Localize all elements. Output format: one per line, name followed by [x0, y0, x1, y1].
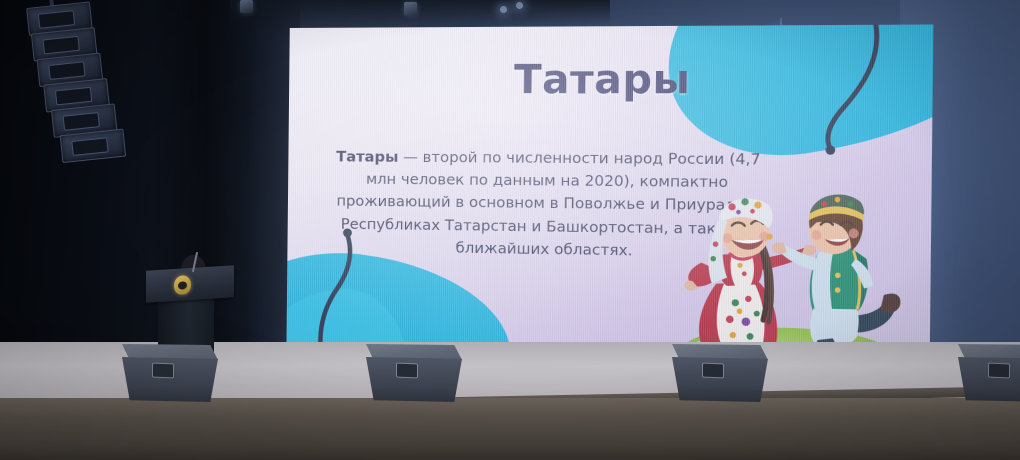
- monitor-face: [672, 357, 768, 402]
- lectern-top-panel: [146, 265, 234, 302]
- monitor-grille-icon: [702, 363, 724, 379]
- projection-screen: Татары Татары — второй по численности на…: [286, 24, 933, 385]
- stage-monitor: [958, 344, 1020, 402]
- gold-emblem-icon: [174, 275, 191, 295]
- stage-photo-scene: Татары Татары — второй по численности на…: [0, 0, 1020, 460]
- slide-canvas: Татары Татары — второй по численности на…: [286, 24, 933, 385]
- monitor-face: [958, 357, 1020, 402]
- ceiling-lamp-icon: [240, 0, 253, 13]
- stage-monitor: [366, 344, 462, 402]
- stage-monitor: [122, 344, 218, 402]
- monitor-grille-icon: [152, 363, 174, 379]
- monitor-face: [366, 357, 462, 402]
- monitor-face: [122, 357, 218, 402]
- slide-title: Татары: [289, 56, 933, 104]
- ceiling-lamp-icon: [404, 2, 417, 15]
- slide-body-lead: Татары: [336, 148, 398, 166]
- ceiling-truss: [230, 0, 610, 26]
- ceiling-light-glow-icon: [500, 6, 507, 13]
- stage-monitor: [672, 344, 768, 402]
- line-array-box: [60, 129, 127, 164]
- stage-apron-front: [0, 398, 1020, 460]
- monitor-grille-icon: [988, 363, 1010, 379]
- hanging-line-array-speakers: [5, 0, 132, 171]
- monitor-grille-icon: [396, 363, 418, 379]
- ceiling-light-glow-icon: [516, 2, 523, 9]
